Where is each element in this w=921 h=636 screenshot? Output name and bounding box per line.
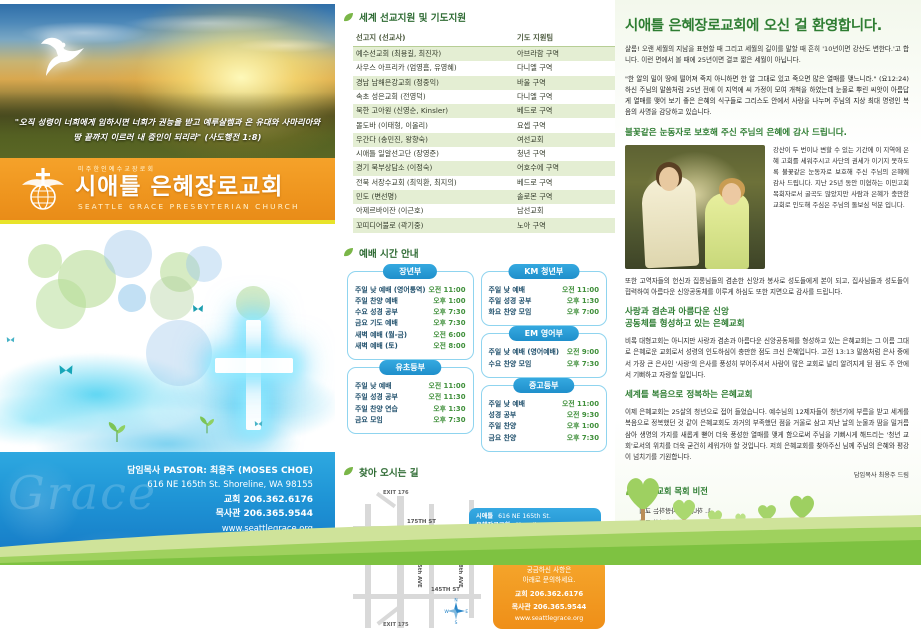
road-label-8th-ave: 8th AVE [457,564,463,588]
table-row: 몰도바 (이태형, 이올리)요셉 구역 [353,118,617,132]
service-time: 오전 9:00 [567,347,599,358]
schedule-row: 성경 공부오전 9:30 [489,410,600,421]
state-route-shield: 99 [359,548,371,560]
service-time: 오전 11:00 [562,285,599,296]
schedule-row: 주일 찬양오후 1:00 [489,421,600,432]
decorative-bubble [150,276,194,320]
pastor-phone: 목사관 206.365.9544 [0,507,313,522]
service-name: 주일 찬양 예배 [355,296,398,307]
table-row: 아제르바이잔 (이근호)남선교회 [353,204,617,218]
callout-city: Shoreline, WA 98155 [515,522,580,531]
schedule-row: 수요 찬양 모임오후 7:30 [489,359,600,370]
schedule-row: 수요 성경 공부오후 7:30 [355,307,466,318]
inquiry-pastor-phone: 목사관 206.365.9544 [501,602,597,612]
church-phone: 교회 206.362.6176 [0,493,313,508]
mission-team: 어호수에 구역 [514,161,617,175]
mission-team: 노아 구역 [514,218,617,232]
svg-text:E: E [465,609,468,615]
glowing-cross-icon [215,320,293,430]
service-time: 오후 1:30 [567,296,599,307]
mission-table-header-row: 선고지 (선교사) 기도 지원팀 [353,31,617,47]
service-name: 주일 낮 예배 (영어예배) [489,347,560,358]
map-section-heading: 찾아 오시는 길 [343,465,607,479]
mission-team: 여선교회 [514,133,617,147]
schedule-column-left: 장년부 주일 낮 예배 (영어통역)오전 11:00 주일 찬양 예배오후 1:… [347,271,474,452]
map-heading-text: 찾아 오시는 길 [359,465,419,479]
table-row: 경기 북부상담소 (이정숙)어호수에 구역 [353,161,617,175]
table-row: 북한 고아원 (신영순, Kinsler)베드로 구역 [353,104,617,118]
interstate-5-shield: 5 [394,548,405,561]
callout-church-name: 시애틀 [476,513,493,522]
mission-field: 우간다 (송민진, 왕향숙) [353,133,514,147]
butterfly-icon [58,364,74,377]
service-name: 주일 찬양 연습 [355,404,398,415]
heart-sprout-icon [705,507,725,529]
schedule-row: 주일 성경 공부오전 11:30 [355,392,466,403]
service-name: 주일 찬양 [489,421,517,432]
schedule-row: 주일 찬양 예배오후 1:00 [355,296,466,307]
mission-team: 요셉 구역 [514,118,617,132]
mission-field: 예수선교회 (최용길, 최진자) [353,47,514,62]
service-time: 오후 1:00 [567,421,599,432]
service-name: 주일 낮 예배 [489,399,526,410]
address-row: 은혜장로교회 Shoreline, WA 98155 [476,522,594,531]
welcome-title: 시애틀 은혜장로교회에 오신 걸 환영합니다. [625,14,909,35]
church-address: 616 NE 165th St. Shoreline, WA 98155 [0,479,313,493]
decorative-bubble [186,246,222,282]
table-row: 속초 성은교회 (전영덕)다니엘 구역 [353,90,617,104]
schedule-column-right: KM 청년부 주일 낮 예배오전 11:00 주일 성경 공부오후 1:30 화… [481,271,608,452]
schedule-row: 주일 성경 공부오후 1:30 [489,296,600,307]
table-row: 시애틀 일알선고단 (장영준)청년 구역 [353,147,617,161]
service-name: 화요 찬양 모임 [489,307,532,318]
sprout-icon [104,420,130,442]
sunset-sky-photo: "오직 성령이 너희에게 임하시면 너희가 권능을 받고 예루살렘과 온 유대와… [0,4,335,164]
schedule-row: 금요 모임오후 7:30 [355,415,466,426]
logo-english-name: SEATTLE GRACE PRESBYTERIAN CHURCH [78,203,300,210]
schedule-row: 금요 기도 예배오후 7:30 [355,318,466,329]
mission-col-team: 기도 지원팀 [514,31,617,47]
church-emblem-icon [20,166,66,212]
service-time: 오전 6:00 [433,330,465,341]
service-name: 새벽 예배 (월-금) [355,330,407,341]
side-paragraph-2: 또한 고역자들의 헌신과 집롱님들의 겸손한 신앙과 봉사로 성도들에게 본이 … [625,276,909,299]
svg-text:N: N [454,598,457,604]
quote-paragraph: "한 알의 밀이 땅에 떨어져 죽지 아니하면 한 알 그대로 있고 죽으면 많… [625,74,909,119]
butterfly-icon [254,420,263,428]
svg-text:W: W [444,609,449,615]
world-mission-heading: 세계를 복음으로 정복하는 은혜교회 [625,388,909,400]
service-time: 오전 11:30 [428,392,465,403]
schedule-card-em-english: EM 영어부 주일 낮 예배 (영어예배)오전 9:00 수요 찬양 모임오후 … [481,333,608,378]
contact-info-band: Grace 담임목사 PASTOR: 최용주 (MOSES CHOE) 616 … [0,452,335,565]
service-name: 새벽 예배 (토) [355,341,398,352]
jesus-with-child-photo [625,145,765,269]
inquiry-line2: 아래로 문의하세요. [501,575,597,585]
mission-team: 베드로 구역 [514,176,617,190]
table-row: 경남 남해은강교회 (정중익)바울 구역 [353,76,617,90]
pastor-name: 담임목사 PASTOR: 최용주 (MOSES CHOE) [0,464,313,479]
schedule-row: 주일 낮 예배오전 11:00 [489,399,600,410]
callout-street: 616 NE 165th St. [498,513,551,522]
watercolor-cross-artwork [0,224,335,456]
schedule-row: 새벽 예배 (토)오전 8:00 [355,341,466,352]
location-map[interactable]: EXIT 176 EXIT 175 175TH ST 148TH ST 145T… [343,486,615,636]
inquiry-church-phone: 교회 206.362.6176 [501,589,597,599]
service-name: 주일 성경 공부 [489,296,532,307]
mission-field: 몰도바 (이태형, 이올리) [353,118,514,132]
list-item: 4. 충실 구역에 앞장서는 교회 [639,541,909,553]
schedule-row: 주일 찬양 연습오후 1:30 [355,404,466,415]
service-time: 오후 7:30 [567,433,599,444]
leaf-icon [343,466,354,477]
mission-field: 북한 고아원 (신영순, Kinsler) [353,104,514,118]
mission-team: 바울 구역 [514,76,617,90]
decorative-bubble [118,284,146,312]
bible-verse-text: "오직 성령이 너희에게 임하시면 너희가 권능을 받고 예루살렘과 온 유대와… [0,115,335,145]
service-time: 오전 11:00 [428,285,465,296]
church-logo-text: 미주한인예수교장로회 시애틀 은혜장로교회 SEATTLE GRACE PRES… [75,167,300,210]
mission-table-body: 예수선교회 (최용길, 최진자)아브라함 구역 사우스 아프리카 (엄영흠, 유… [353,47,617,233]
road-vertical [365,504,371,628]
road-label-175th: 175TH ST [407,519,436,525]
sprout-icon [196,414,218,434]
schedule-row: 금요 찬양오후 7:30 [489,433,600,444]
service-name: 주일 성경 공부 [355,392,398,403]
schedule-row: 화요 찬양 모임오후 7:00 [489,307,600,318]
church-building-icon [431,534,475,560]
service-time: 오전 11:00 [428,381,465,392]
butterfly-icon [192,304,204,314]
compass-rose-icon: N S W E [443,598,469,624]
church-logo-band: 미주한인예수교장로회 시애틀 은혜장로교회 SEATTLE GRACE PRES… [0,158,335,224]
service-name: 주일 낮 예배 [355,381,392,392]
address-row: 시애틀 616 NE 165th St. [476,513,594,522]
child-head [722,183,741,205]
heart-tree-icon [785,491,819,529]
schedule-card-adult: 장년부 주일 낮 예배 (영어통역)오전 11:00 주일 찬양 예배오후 1:… [347,271,474,361]
service-name: 금요 기도 예배 [355,318,398,329]
schedule-row: 주일 낮 예배 (영어통역)오전 11:00 [355,285,466,296]
mission-support-table: 선고지 (선교사) 기도 지원팀 예수선교회 (최용길, 최진자)아브라함 구역… [353,31,617,233]
right-panel: 시애틀 은혜장로교회에 오신 걸 환영합니다. 샬롬! 오랜 세월의 지남을 표… [615,0,921,565]
mission-field: 시애틀 일알선고단 (장영준) [353,147,514,161]
service-name: 금요 찬양 [489,433,517,444]
decorative-bubble [146,320,212,386]
decorative-bubble [104,230,152,278]
schedule-card-title: 장년부 [383,264,437,279]
service-time: 오전 8:00 [433,341,465,352]
inquiry-line1: 궁금하신 사항은 [501,565,597,575]
schedule-row: 새벽 예배 (월-금)오전 6:00 [355,330,466,341]
callout-church-name-2: 은혜장로교회 [476,522,510,531]
side-paragraph-1: 강산이 두 번이나 변할 수 있는 기간에 이 지역에 은혜 고회를 세워주시고… [773,145,909,269]
mission-team: 베드로 구역 [514,104,617,118]
service-time: 오후 1:30 [433,404,465,415]
service-time: 오전 11:00 [562,399,599,410]
heart-sprout-icon [733,511,748,529]
schedule-row: 주일 낮 예배오전 11:00 [489,285,600,296]
community-heading: 사랑과 겸손과 아름다운 신앙 공동체를 형성하고 있는 은혜교회 [625,305,909,329]
exit-label-bottom: EXIT 175 [383,622,409,628]
mission-field: 아제르바이잔 (이근호) [353,204,514,218]
inquiry-callout: 궁금하신 사항은 아래로 문의하세요. 교회 206.362.6176 목사관 … [493,558,605,630]
intro-paragraph: 샬롬! 오랜 세월의 지남을 표현할 때 그리고 세월의 길이를 말할 때 흔히… [625,44,909,67]
service-time: 오후 7:30 [567,359,599,370]
service-time: 오후 7:30 [433,307,465,318]
service-name: 성경 공부 [489,410,517,421]
thanks-heading: 불꽃같은 눈동자로 보호해 주신 주님의 은혜에 감사 드립니다. [625,126,909,138]
butterfly-icon [6,336,15,344]
schedule-card-title: KM 청년부 [508,264,579,279]
mission-team: 남선교회 [514,204,617,218]
schedule-card-children: 유초등부 주일 낮 예배오전 11:00 주일 성경 공부오전 11:30 주일… [347,367,474,434]
mission-team: 아브라함 구역 [514,47,617,62]
service-name: 주일 낮 예배 [489,285,526,296]
mission-field: 꼬띠디어불로 (곽기중) [353,218,514,232]
service-time: 오후 7:30 [433,415,465,426]
exit-label-top: EXIT 176 [383,490,409,496]
schedule-section-heading: 예배 시간 안내 [343,246,607,260]
mission-field: 전북 서장수교회 (최익환, 최지의) [353,176,514,190]
church-website[interactable]: www.seattlegrace.org [0,522,313,536]
middle-panel: 세계 선교지원 및 기도지원 선고지 (선교사) 기도 지원팀 예수선교회 (최… [335,0,615,565]
contact-lines: 담임목사 PASTOR: 최용주 (MOSES CHOE) 616 NE 165… [0,452,335,535]
mission-field: 경남 남해은강교회 (정중익) [353,76,514,90]
logo-korean-name: 시애틀 은혜장로교회 [75,176,300,199]
schedule-card-title: 유초등부 [380,360,441,375]
table-row: 우간다 (송민진, 왕향숙)여선교회 [353,133,617,147]
schedule-card-youth: 중고등부 주일 낮 예배오전 11:00 성경 공부오전 9:30 주일 찬양오… [481,385,608,452]
table-row: 민도 (변선명)솔로몬 구역 [353,190,617,204]
road-label-5th-ave: 5th AVE [416,564,422,588]
table-row: 사우스 아프리카 (엄영흠, 유영혜)다니엘 구역 [353,61,617,75]
brochure-page: "오직 성령이 너희에게 임하시면 너희가 권능을 받고 예루살렘과 온 유대와… [0,0,921,565]
schedule-card-km-youth: KM 청년부 주일 낮 예배오전 11:00 주일 성경 공부오후 1:30 화… [481,271,608,327]
mission-heading-text: 세계 선교지원 및 기도지원 [359,10,466,24]
decorative-trees [619,469,819,531]
mission-field: 경기 북부상담소 (이정숙) [353,161,514,175]
mission-team: 다니엘 구역 [514,90,617,104]
table-row: 전북 서장수교회 (최익환, 최지의)베드로 구역 [353,176,617,190]
dove-icon [36,32,90,82]
heart-tree-icon [621,471,665,529]
address-callout: 시애틀 616 NE 165th St. 은혜장로교회 Shoreline, W… [469,508,601,536]
service-time: 오전 9:30 [567,410,599,421]
left-panel: "오직 성령이 너희에게 임하시면 너희가 권능을 받고 예루살렘과 온 유대와… [0,0,335,565]
service-time: 오후 7:30 [433,318,465,329]
service-name: 주일 낮 예배 (영어통역) [355,285,426,296]
schedule-row: 주일 낮 예배 (영어예배)오전 9:00 [489,347,600,358]
decorative-bubble [36,279,86,329]
service-name: 수요 성경 공부 [355,307,398,318]
decorative-bubble [28,244,62,278]
mission-field: 사우스 아프리카 (엄영흠, 유영혜) [353,61,514,75]
jesus-head [659,167,679,191]
heart-tree-icon [755,501,779,529]
verse-overlay: "오직 성령이 너희에게 임하시면 너희가 권능을 받고 예루살렘과 온 유대와… [0,92,335,168]
heart-tree-icon [669,495,699,529]
schedule-row: 주일 낮 예배오전 11:00 [355,381,466,392]
mission-team: 다니엘 구역 [514,61,617,75]
mission-field: 민도 (변선명) [353,190,514,204]
table-row: 예수선교회 (최용길, 최진자)아브라함 구역 [353,47,617,62]
service-time: 오후 1:00 [433,296,465,307]
mission-team: 솔로몬 구역 [514,190,617,204]
svg-text:S: S [455,620,458,624]
jesus-photo-row: 강산이 두 번이나 변할 수 있는 기간에 이 지역에 은혜 고회를 세워주시고… [625,145,909,269]
directions-section: 찾아 오시는 길 EXIT 176 EXIT 175 175TH ST 148T… [343,465,607,636]
decorative-bubble [236,286,270,320]
mission-team: 청년 구역 [514,147,617,161]
leaf-icon [343,12,354,23]
mission-col-field: 선고지 (선교사) [353,31,514,47]
road-175th [353,526,481,531]
community-paragraph: 비록 대형고회는 아니지만 사랑과 겸손과 아름다운 신앙공동체를 형성하고 있… [625,336,909,381]
mission-section-heading: 세계 선교지원 및 기도지원 [343,10,607,24]
worship-schedule: 장년부 주일 낮 예배 (영어통역)오전 11:00 주일 찬양 예배오후 1:… [343,271,607,452]
service-time: 오후 7:00 [567,307,599,318]
service-name: 금요 모임 [355,415,383,426]
logo-supertitle: 미주한인예수교장로회 [78,167,300,173]
schedule-card-title: EM 영어부 [509,326,579,341]
world-mission-paragraph: 이제 은혜교회는 25살의 청년으로 접어 들었습니다. 예수님의 12제자들이… [625,407,909,463]
inquiry-website[interactable]: www.seattlegrace.org [501,615,597,622]
mission-field: 속초 성은교회 (전영덕) [353,90,514,104]
table-row: 꼬띠디어불로 (곽기중)노아 구역 [353,218,617,232]
service-name: 수요 찬양 모임 [489,359,532,370]
schedule-heading-text: 예배 시간 안내 [359,246,419,260]
schedule-card-title: 중고등부 [513,378,574,393]
leaf-icon [343,247,354,258]
list-item: 3. 프랍게 기도하는 교회 [639,529,909,541]
road-label-145th: 145TH ST [431,587,460,593]
